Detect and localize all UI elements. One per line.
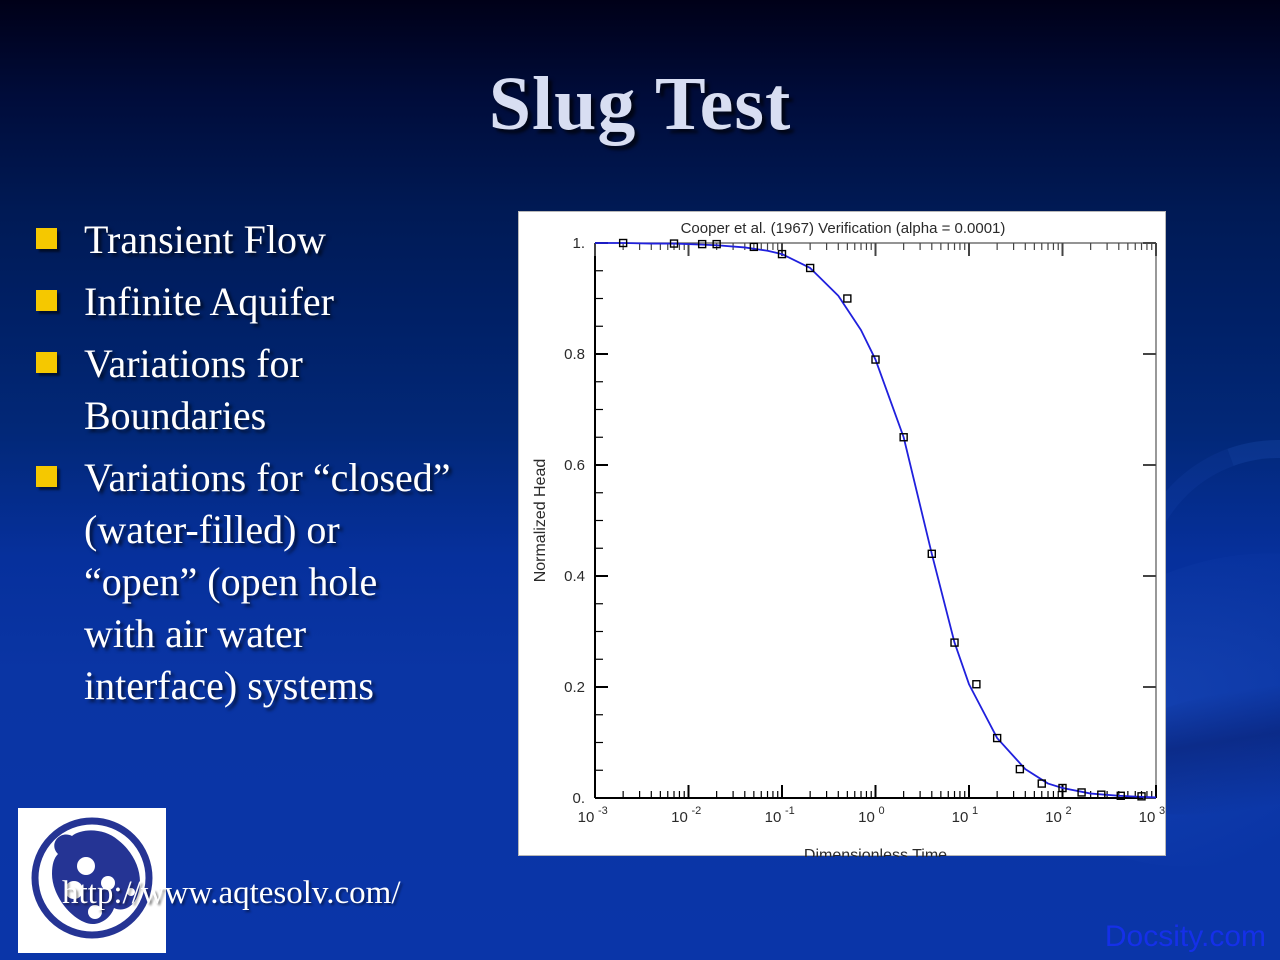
watermark: Docsity.com	[1105, 920, 1266, 954]
svg-text:Dimensionless Time: Dimensionless Time	[804, 847, 947, 857]
source-url[interactable]: http://www.aqtesolv.com/	[62, 875, 401, 912]
data-series-line	[595, 243, 1156, 797]
svg-text:1: 1	[972, 805, 978, 817]
svg-text:1.: 1.	[572, 235, 585, 252]
svg-text:10: 10	[671, 809, 688, 826]
svg-text:-3: -3	[598, 805, 608, 817]
svg-text:0.6: 0.6	[564, 457, 585, 474]
slide-title: Slug Test	[0, 66, 1280, 142]
data-series-markers	[620, 240, 1145, 800]
list-item: Infinite Aquifer	[36, 276, 456, 328]
svg-text:0.8: 0.8	[564, 346, 585, 363]
svg-text:10: 10	[578, 809, 595, 826]
svg-text:-1: -1	[785, 805, 795, 817]
svg-text:0: 0	[879, 805, 885, 817]
bullet-list: Transient Flow Infinite Aquifer Variatio…	[36, 214, 456, 722]
bullet-label: Variations for Boundaries	[84, 338, 456, 442]
square-bullet-icon	[36, 290, 57, 311]
svg-text:10: 10	[1139, 809, 1156, 826]
chart-plot: 10-310-210-1100101102103 0.0.20.40.60.81…	[519, 212, 1167, 857]
y-axis-ticks: 0.0.20.40.60.81.	[564, 235, 1156, 807]
plot-frame	[595, 243, 1156, 798]
svg-text:3: 3	[1159, 805, 1165, 817]
svg-text:10: 10	[765, 809, 782, 826]
square-bullet-icon	[36, 352, 57, 373]
list-item: Variations for Boundaries	[36, 338, 456, 442]
svg-text:10: 10	[1045, 809, 1062, 826]
svg-text:Normalized Head: Normalized Head	[532, 459, 549, 583]
svg-text:10: 10	[858, 809, 875, 826]
bullet-label: Variations for “closed” (water-filled) o…	[84, 452, 456, 712]
square-bullet-icon	[36, 466, 57, 487]
svg-text:0.: 0.	[572, 790, 585, 807]
svg-text:0.2: 0.2	[564, 679, 585, 696]
presentation-slide: Slug Test Transient Flow Infinite Aquife…	[0, 0, 1280, 960]
svg-text:2: 2	[1066, 805, 1072, 817]
chart-image-panel: Cooper et al. (1967) Verification (alpha…	[518, 211, 1166, 856]
bullet-label: Infinite Aquifer	[84, 276, 456, 328]
bullet-label: Transient Flow	[84, 214, 456, 266]
square-bullet-icon	[36, 228, 57, 249]
svg-text:-2: -2	[692, 805, 702, 817]
list-item: Transient Flow	[36, 214, 456, 266]
svg-text:0.4: 0.4	[564, 568, 585, 585]
x-axis-ticks: 10-310-210-1100101102103	[578, 243, 1165, 826]
list-item: Variations for “closed” (water-filled) o…	[36, 452, 456, 712]
svg-text:10: 10	[952, 809, 969, 826]
